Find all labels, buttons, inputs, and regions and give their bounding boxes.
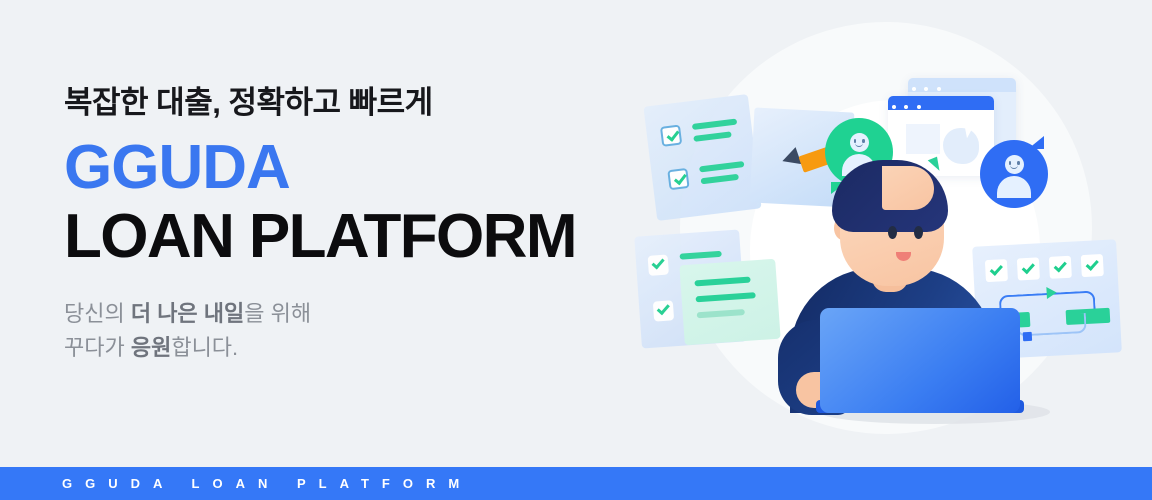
avatar-head-icon (1005, 155, 1024, 174)
person-eye (888, 226, 897, 239)
tagline-line1-strong: 더 나은 내일 (131, 301, 244, 326)
product-name: LOAN PLATFORM (64, 204, 624, 269)
flow-arrow-icon (1046, 286, 1057, 299)
checkbox-icon (648, 255, 669, 276)
cursor-icon (928, 157, 943, 174)
avatar-head-icon (850, 133, 869, 152)
text-bar (680, 251, 722, 260)
mint-note-card (679, 259, 780, 346)
laptop (820, 308, 1020, 413)
text-bar (701, 174, 739, 185)
checkbox-icon (660, 125, 682, 147)
browser-titlebar (908, 78, 1016, 92)
checkbox-icon (667, 168, 689, 190)
window-dot-icon (937, 87, 941, 91)
browser-titlebar (888, 96, 994, 110)
window-dot-icon (917, 105, 921, 109)
check-tile-icon (1081, 254, 1104, 277)
text-bar (693, 131, 731, 142)
avatar-body-icon (997, 176, 1031, 198)
person-eye (914, 226, 923, 239)
text-bar (699, 161, 744, 172)
tagline-line1-prefix: 당신의 (64, 301, 131, 326)
text-bar (692, 119, 737, 130)
brand-name: GGUDA (64, 135, 624, 200)
image-placeholder (906, 124, 940, 154)
tagline-line1-suffix: 을 위해 (244, 301, 311, 326)
check-tile-icon (1049, 256, 1072, 279)
check-tile-icon (1017, 257, 1040, 280)
flow-endpoint (1023, 332, 1032, 341)
check-tile-icon (985, 259, 1008, 282)
window-dot-icon (892, 105, 896, 109)
hero-illustration (620, 0, 1152, 467)
tagline: 당신의 더 나은 내일을 위해 꾸다가 응원합니다. (64, 297, 624, 365)
checklist-card (643, 94, 761, 221)
bottom-ticker-bar: GGUDA LOAN PLATFORM (0, 467, 1152, 500)
window-dot-icon (912, 87, 916, 91)
headline-kicker: 복잡한 대출, 정확하고 빠르게 (64, 84, 624, 123)
tagline-line2-prefix: 꾸다가 (64, 335, 131, 360)
window-dot-icon (904, 105, 908, 109)
ticker-text: GGUDA LOAN PLATFORM (0, 476, 472, 491)
hero-banner: 복잡한 대출, 정확하고 빠르게 GGUDA LOAN PLATFORM 당신의… (0, 0, 1152, 500)
text-bar (697, 309, 745, 318)
tagline-line2-suffix: 합니다. (171, 335, 238, 360)
tagline-line2-strong: 응원 (131, 335, 171, 360)
hero-copy: 복잡한 대출, 정확하고 빠르게 GGUDA LOAN PLATFORM 당신의… (64, 84, 624, 365)
text-bar (694, 277, 750, 287)
blue-avatar-bubble (980, 140, 1048, 208)
person-hair-swoop (882, 166, 934, 210)
text-bar (696, 292, 756, 302)
window-dot-icon (924, 87, 928, 91)
checkbox-icon (653, 300, 674, 321)
